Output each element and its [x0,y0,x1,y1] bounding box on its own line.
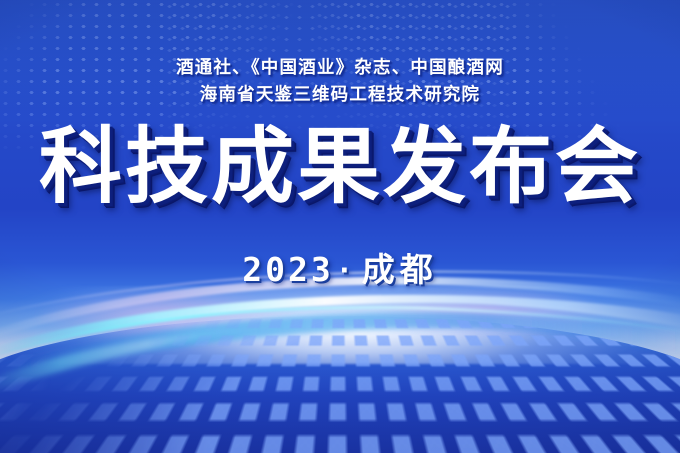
conference-poster: 酒通社、《中国酒业》杂志、中国酿酒网 海南省天鉴三维码工程技术研究院 科技成果发… [0,0,680,453]
organizer-block: 酒通社、《中国酒业》杂志、中国酿酒网 海南省天鉴三维码工程技术研究院 [0,54,680,108]
event-year-city: 2023·成都 [0,243,680,291]
separator-dot: · [334,251,362,288]
poster-content: 酒通社、《中国酒业》杂志、中国酿酒网 海南省天鉴三维码工程技术研究院 科技成果发… [0,0,680,453]
page-title: 科技成果发布会 [0,122,680,212]
event-city: 成都 [362,251,438,288]
organizer-line-1: 酒通社、《中国酒业》杂志、中国酿酒网 [0,54,680,81]
organizer-line-2: 海南省天鉴三维码工程技术研究院 [0,81,680,108]
event-year: 2023 [242,250,333,289]
